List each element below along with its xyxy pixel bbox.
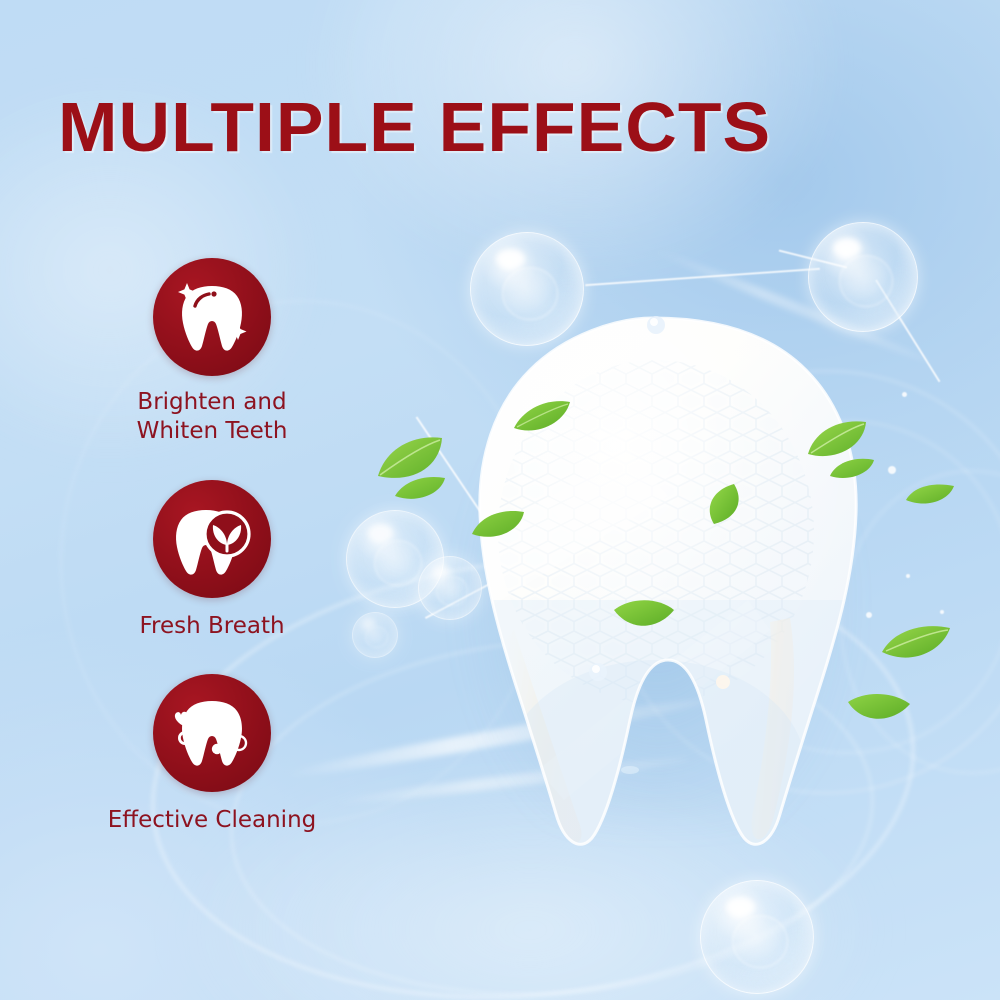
feature-label: Effective Cleaning — [92, 806, 332, 835]
mint-leaf-icon — [470, 508, 526, 542]
feature-item-effective-cleaning[interactable]: Effective Cleaning — [92, 674, 332, 835]
feature-badge — [153, 258, 271, 376]
water-bubble — [352, 612, 398, 658]
mint-leaf-icon — [393, 474, 447, 502]
feature-label: Brighten and Whiten Teeth — [92, 388, 332, 446]
feature-item-brighten-whiten[interactable]: Brighten and Whiten Teeth — [92, 258, 332, 446]
sparkle-dot — [940, 610, 944, 614]
feature-label: Fresh Breath — [92, 612, 332, 641]
sparkle-dot — [906, 574, 910, 578]
mint-leaf-icon — [512, 398, 572, 438]
feature-badge — [153, 674, 271, 792]
feature-list: Brighten and Whiten Teeth Fresh Breath — [92, 258, 332, 869]
feature-item-fresh-breath[interactable]: Fresh Breath — [92, 480, 332, 641]
tooth-bubbles-icon — [170, 691, 254, 775]
page-title: MULTIPLE EFFECTS — [58, 92, 771, 162]
mint-leaf-icon — [612, 596, 676, 636]
hero-tooth-illustration — [418, 300, 888, 860]
tooth-leaf-icon — [170, 497, 254, 581]
hero-tooth — [418, 300, 888, 860]
mint-leaf-icon — [906, 482, 956, 508]
tooth-sparkle-icon — [170, 275, 254, 359]
water-bubble — [700, 880, 814, 994]
mint-leaf-icon — [846, 690, 912, 730]
mint-leaf-icon — [880, 622, 952, 666]
sparkle-dot — [888, 466, 896, 474]
sparkle-dot — [902, 392, 907, 397]
product-infographic-poster: MULTIPLE EFFECTS Brighten and Whiten Tee… — [0, 0, 1000, 1000]
feature-badge — [153, 480, 271, 598]
mint-leaf-icon — [828, 456, 876, 482]
mint-leaf-icon — [700, 482, 748, 526]
